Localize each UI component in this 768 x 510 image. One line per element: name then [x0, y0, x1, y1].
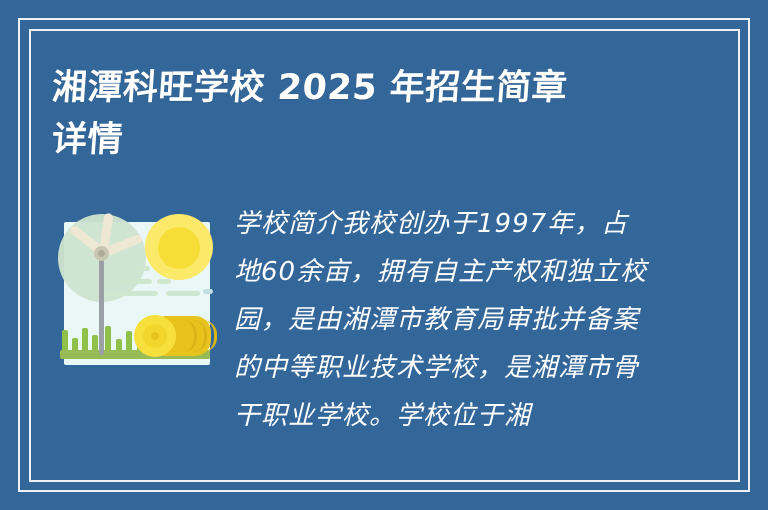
renewable-energy-farm-illustration	[58, 210, 210, 365]
turbine-mast-icon	[99, 250, 104, 355]
cloud-streak-icon	[157, 279, 171, 284]
page-title-line-2: 详情	[50, 114, 714, 166]
hay-bale-core-icon	[151, 332, 159, 340]
page-title-line-1: 湘潭科旺学校 2025 年招生简章	[50, 62, 714, 114]
cloud-streak-icon	[96, 291, 158, 296]
hay-bale-ring-icon	[200, 320, 217, 352]
cloud-streak-icon	[130, 266, 150, 271]
cloud-streak-icon	[203, 289, 213, 294]
turbine-hub-center-icon	[98, 250, 105, 257]
cloud-streak-icon	[166, 291, 200, 296]
content-row: 学校简介我校创办于1997年，占地60余亩，拥有自主产权和独立校园，是由湘潭市教…	[52, 200, 716, 450]
page-title: 湘潭科旺学校 2025 年招生简章 详情	[52, 62, 712, 166]
sun-icon	[158, 227, 200, 269]
poster-canvas: 湘潭科旺学校 2025 年招生简章 详情	[0, 0, 768, 510]
cloud-streak-icon	[122, 279, 152, 284]
article-body-paragraph: 学校简介我校创办于1997年，占地60余亩，拥有自主产权和独立校园，是由湘潭市教…	[234, 200, 654, 440]
